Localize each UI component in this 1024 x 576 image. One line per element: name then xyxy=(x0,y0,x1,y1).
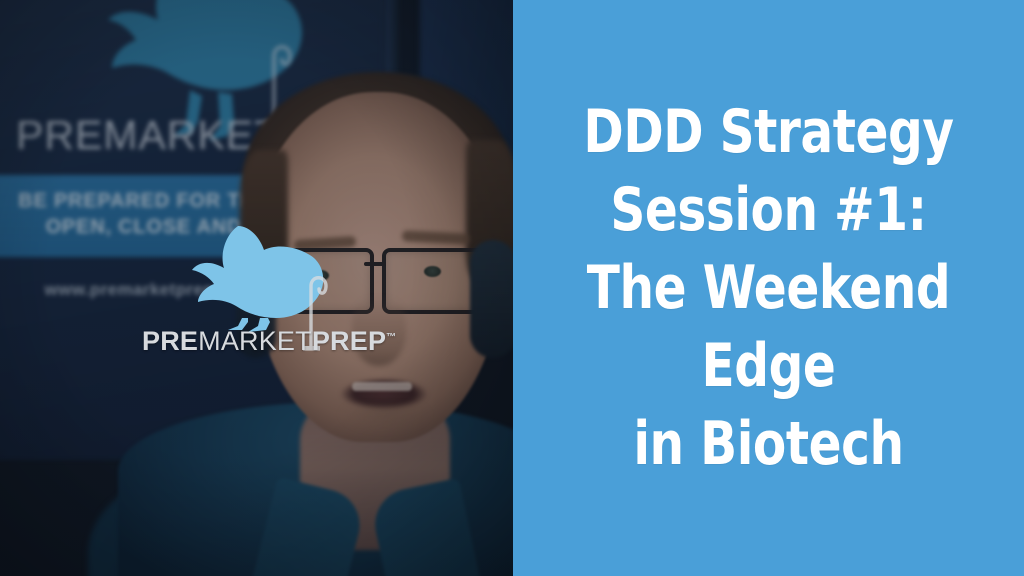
video-thumbnail: PREMARKETPREP BE PREPARED FOR THE OPEN, … xyxy=(0,0,1024,576)
subject-teeth xyxy=(352,382,412,391)
subject-nose xyxy=(352,296,406,366)
headphone-earcup-right xyxy=(470,240,513,358)
headphone-earcup-left xyxy=(236,250,276,358)
subject-chin xyxy=(320,404,450,456)
webcam-video-feed[interactable]: PREMARKETPREP BE PREPARED FOR THE OPEN, … xyxy=(0,0,513,576)
video-title: DDD Strategy Session #1: The Weekend Edg… xyxy=(539,93,999,483)
video-subject xyxy=(0,0,513,576)
title-panel: DDD Strategy Session #1: The Weekend Edg… xyxy=(513,0,1024,576)
eyeglass-bridge xyxy=(364,262,386,266)
